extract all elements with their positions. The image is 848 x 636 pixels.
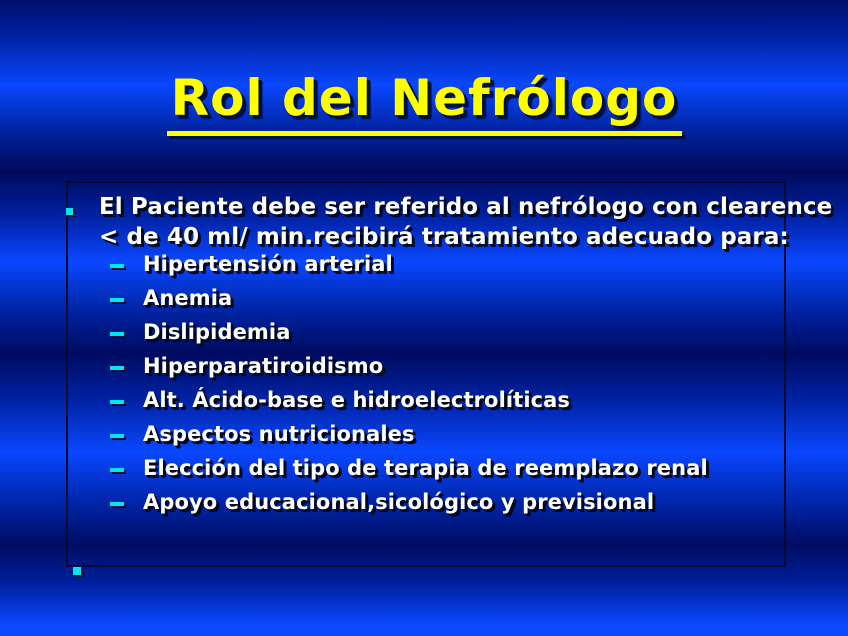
dash-icon [110, 502, 124, 506]
bullet-level2-text: Dislipidemia [143, 318, 290, 346]
bullet-level2-dislipidemia: Dislipidemia [110, 318, 290, 348]
bullet-level2-anemia: Anemia [110, 284, 232, 314]
bullet-level1-text: El Paciente debe ser referido al nefrólo… [99, 192, 832, 252]
dash-icon [110, 400, 124, 404]
bullet-level2-text: Aspectos nutricionales [143, 420, 415, 448]
bullet-level2-text: Hiperparatiroidismo [143, 352, 383, 380]
slide-title-text: Rol del Nefrólogo [167, 72, 682, 128]
bullet-level1: El Paciente debe ser referido al nefrólo… [66, 192, 832, 252]
slide-title: Rol del Nefrólogo [0, 72, 848, 136]
bullet-level2-apoyo: Apoyo educacional,sicológico y prevision… [110, 488, 654, 518]
square-dot-icon [66, 208, 73, 215]
bullet-level2-text: Apoyo educacional,sicológico y prevision… [143, 488, 654, 516]
dash-icon [110, 468, 124, 472]
bullet-level2-terapia-reemplazo: Elección del tipo de terapia de reemplaz… [110, 454, 708, 484]
bullet-level2-text: Hipertensión arterial [143, 250, 393, 278]
dash-icon [110, 332, 124, 336]
bullet-level2-text: Alt. Ácido-base e hidroelectrolíticas [143, 386, 570, 414]
dash-icon [110, 434, 124, 438]
square-dot-icon-trailing [73, 567, 81, 575]
bullet-level2-text: Elección del tipo de terapia de reemplaz… [143, 454, 708, 482]
slide-title-underline [167, 131, 682, 136]
dash-icon [110, 264, 124, 268]
dash-icon [110, 298, 124, 302]
slide-canvas: Rol del Nefrólogo El Paciente debe ser r… [0, 0, 848, 636]
bullet-level2-text: Anemia [143, 284, 232, 312]
bullet-level2-nutricionales: Aspectos nutricionales [110, 420, 415, 450]
bullet-level2-hipertension: Hipertensión arterial [110, 250, 393, 280]
dash-icon [110, 366, 124, 370]
bullet-level2-acido-base: Alt. Ácido-base e hidroelectrolíticas [110, 386, 570, 416]
bullet-level2-hiperparatiroidismo: Hiperparatiroidismo [110, 352, 383, 382]
